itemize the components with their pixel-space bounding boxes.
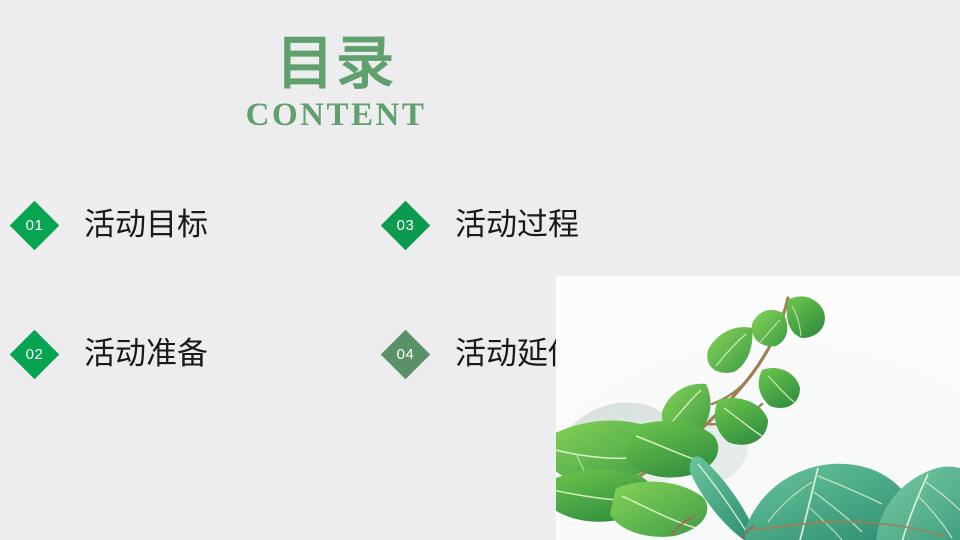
page-title: 目录 [0, 34, 672, 94]
toc-item-label: 活动准备 [84, 338, 208, 372]
diamond-badge-01: 01 [10, 201, 59, 250]
badge-number: 03 [388, 208, 423, 243]
slide-canvas: 目录 CONTENT 01 活动目标 02 活动准备 03 活动过程 04 活动… [0, 0, 960, 540]
badge-number: 01 [17, 208, 52, 243]
toc-item-03[interactable]: 03 活动过程 [388, 208, 579, 243]
diamond-badge-04: 04 [381, 330, 430, 379]
toc-item-label: 活动过程 [455, 209, 579, 243]
toc-item-02[interactable]: 02 活动准备 [17, 337, 208, 372]
badge-number: 02 [17, 337, 52, 372]
green-ivy-leaves-photo [556, 276, 960, 540]
toc-item-label: 活动目标 [84, 209, 208, 243]
toc-item-01[interactable]: 01 活动目标 [17, 208, 208, 243]
page-subtitle: CONTENT [0, 97, 672, 134]
badge-number: 04 [388, 337, 423, 372]
diamond-badge-02: 02 [10, 330, 59, 379]
title-block: 目录 CONTENT [0, 34, 672, 134]
diamond-badge-03: 03 [381, 201, 430, 250]
toc-item-04[interactable]: 04 活动延伸 [388, 337, 579, 372]
